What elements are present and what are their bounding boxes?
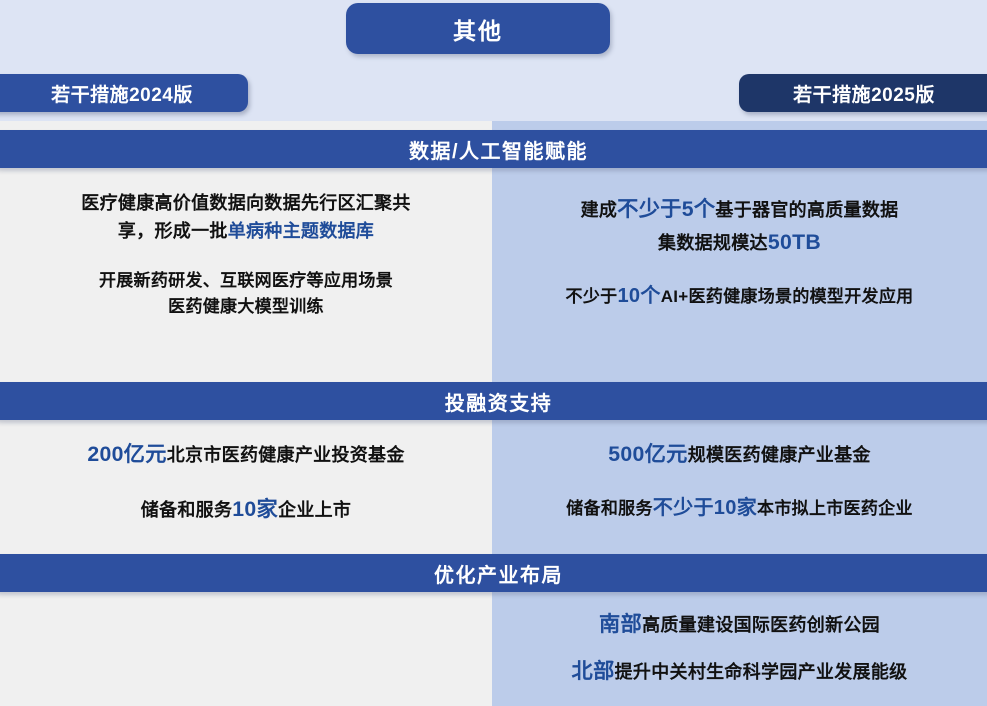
badge-version-2025: 若干措施2025版 [739,74,987,112]
infographic-root: 其他 若干措施2024版 若干措施2025版 数据/人工智能赋能 医疗健康高价值… [0,0,987,706]
highlight-run: 10家 [232,497,278,521]
highlight-run: 不少于10家 [653,497,757,519]
highlight-run: 10个 [617,285,660,307]
page-title: 其他 [346,3,610,54]
badge-version-2025-label: 若干措施2025版 [793,80,935,107]
cell-2025-industry-layout-paragraph-2: 北部提升中关村生命科学园产业发展能级 [510,655,969,688]
text-run: 高质量建设国际医药创新公园 [642,615,880,635]
cell-2024-investment-paragraph-2: 储备和服务10家企业上市 [18,493,474,526]
text-run: 企业上市 [278,500,351,520]
section-band-investment-label: 投融资支持 [445,387,553,416]
section-band-investment: 投融资支持 [0,382,987,420]
text-run: 医疗健康高价值数据向数据先行区汇聚共 [81,193,410,213]
cell-2025-data-ai-paragraph-2: 不少于10个AI+医药健康场景的模型开发应用 [510,281,969,312]
cell-2025-data-ai: 建成不少于5个基于器官的高质量数据 集数据规模达50TB 不少于10个AI+医药… [492,193,987,363]
page-title-label: 其他 [453,12,503,46]
highlight-run: 500亿元 [608,442,687,466]
text-run: 集数据规模达 [658,233,768,253]
cell-2024-industry-layout [0,608,492,698]
cell-2025-investment-paragraph-1: 500亿元规模医药健康产业基金 [510,438,969,471]
cell-2024-investment: 200亿元北京市医药健康产业投资基金 储备和服务10家企业上市 [0,438,492,548]
text-run: 储备和服务 [566,499,653,518]
highlight-run: 南部 [599,612,642,636]
section-band-industry-layout-label: 优化产业布局 [434,559,563,588]
cell-2025-industry-layout-paragraph-1: 南部高质量建设国际医药创新公园 [510,608,969,641]
text-run: 北京市医药健康产业投资基金 [167,445,405,465]
text-run: 开展新药研发、互联网医疗等应用场景 [99,271,393,290]
text-run: 基于器官的高质量数据 [715,200,898,220]
text-run: 享，形成一批 [118,221,228,241]
highlight-run: 200亿元 [87,442,166,466]
highlight-run: 50TB [768,230,821,254]
text-run: 储备和服务 [141,500,233,520]
cell-2024-data-ai: 医疗健康高价值数据向数据先行区汇聚共 享，形成一批单病种主题数据库 开展新药研发… [0,190,492,360]
cell-2025-investment: 500亿元规模医药健康产业基金 储备和服务不少于10家本市拟上市医药企业 [492,438,987,548]
cell-2024-data-ai-paragraph-2: 开展新药研发、互联网医疗等应用场景 医药健康大模型训练 [18,268,474,321]
cell-2024-data-ai-paragraph-1: 医疗健康高价值数据向数据先行区汇聚共 享，形成一批单病种主题数据库 [18,190,474,246]
cell-2025-industry-layout: 南部高质量建设国际医药创新公园 北部提升中关村生命科学园产业发展能级 [492,608,987,698]
section-band-industry-layout: 优化产业布局 [0,554,987,592]
highlight-run: 北部 [572,659,615,683]
highlight-run: 单病种主题数据库 [228,221,374,241]
section-band-data-ai: 数据/人工智能赋能 [0,130,987,168]
text-run: 不少于 [566,287,618,306]
text-run: 提升中关村生命科学园产业发展能级 [615,662,908,682]
cell-2024-investment-paragraph-1: 200亿元北京市医药健康产业投资基金 [18,438,474,471]
section-band-data-ai-label: 数据/人工智能赋能 [409,135,588,164]
text-run: 医药健康大模型训练 [168,297,324,316]
cell-2025-investment-paragraph-2: 储备和服务不少于10家本市拟上市医药企业 [510,493,969,524]
highlight-run: 不少于5个 [617,197,715,221]
text-run: 规模医药健康产业基金 [688,445,871,465]
text-run: 本市拟上市医药企业 [757,499,913,518]
text-run: AI+医药健康场景的模型开发应用 [661,287,914,306]
badge-version-2024-label: 若干措施2024版 [51,80,193,107]
text-run: 建成 [581,200,618,220]
badge-version-2024: 若干措施2024版 [0,74,248,112]
cell-2025-data-ai-paragraph-1: 建成不少于5个基于器官的高质量数据 集数据规模达50TB [510,193,969,259]
